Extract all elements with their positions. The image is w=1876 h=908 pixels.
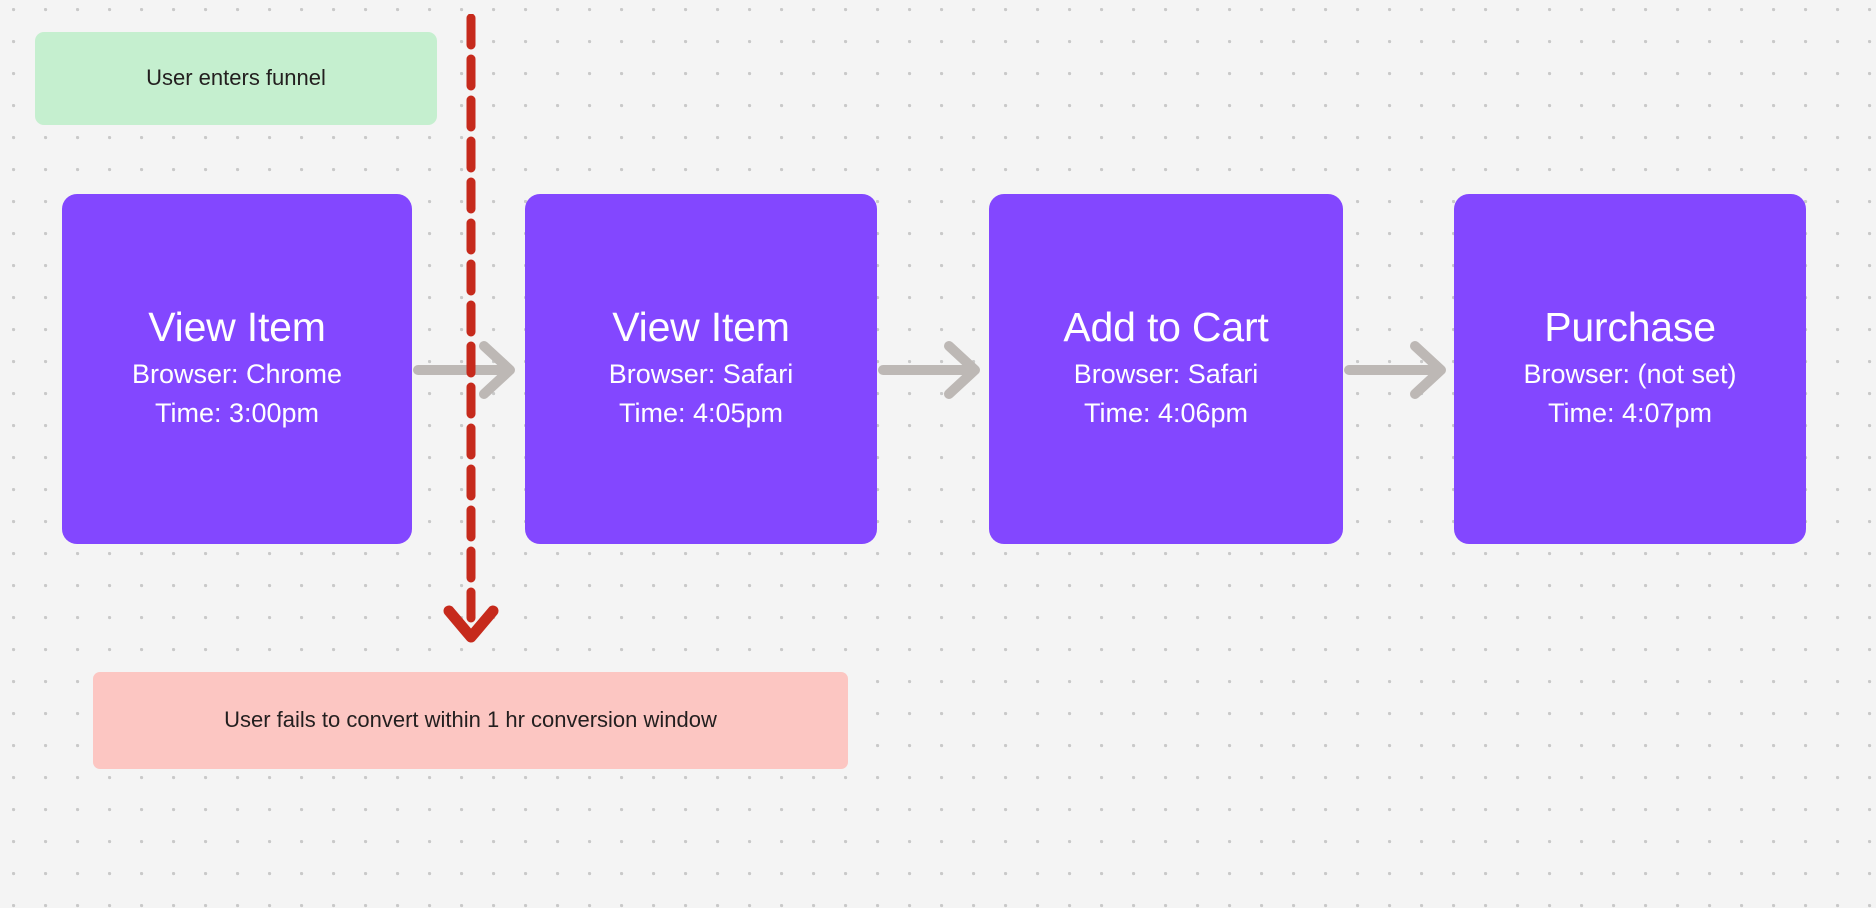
funnel-step-1-time: Time: 3:00pm <box>155 394 319 433</box>
funnel-step-4-time: Time: 4:07pm <box>1548 394 1712 433</box>
diagram-canvas: User enters funnel View Item Browser: Ch… <box>0 0 1876 908</box>
funnel-step-card-1[interactable]: View Item Browser: Chrome Time: 3:00pm <box>62 194 412 544</box>
funnel-step-card-2[interactable]: View Item Browser: Safari Time: 4:05pm <box>525 194 877 544</box>
note-user-fails-to-convert: User fails to convert within 1 hr conver… <box>93 672 848 769</box>
funnel-step-4-title: Purchase <box>1544 305 1716 349</box>
funnel-step-card-4[interactable]: Purchase Browser: (not set) Time: 4:07pm <box>1454 194 1806 544</box>
funnel-step-2-title: View Item <box>612 305 789 349</box>
conversion-window-dropoff-arrow <box>432 14 510 664</box>
funnel-step-2-time: Time: 4:05pm <box>619 394 783 433</box>
funnel-step-1-title: View Item <box>148 305 325 349</box>
funnel-step-3-time: Time: 4:06pm <box>1084 394 1248 433</box>
note-user-fails-to-convert-label: User fails to convert within 1 hr conver… <box>224 707 717 733</box>
note-user-enters-funnel: User enters funnel <box>35 32 437 125</box>
arrow-right-icon <box>1343 338 1455 402</box>
connector-step-2-to-step-3 <box>877 338 989 402</box>
funnel-step-4-browser: Browser: (not set) <box>1523 355 1736 394</box>
funnel-step-1-browser: Browser: Chrome <box>132 355 342 394</box>
arrow-right-icon <box>877 338 989 402</box>
funnel-step-2-browser: Browser: Safari <box>609 355 794 394</box>
note-user-enters-funnel-label: User enters funnel <box>146 65 326 91</box>
connector-step-3-to-step-4 <box>1343 338 1455 402</box>
funnel-step-card-3[interactable]: Add to Cart Browser: Safari Time: 4:06pm <box>989 194 1343 544</box>
funnel-step-3-title: Add to Cart <box>1063 305 1268 349</box>
funnel-step-3-browser: Browser: Safari <box>1074 355 1259 394</box>
dropoff-arrow-icon <box>432 14 510 664</box>
